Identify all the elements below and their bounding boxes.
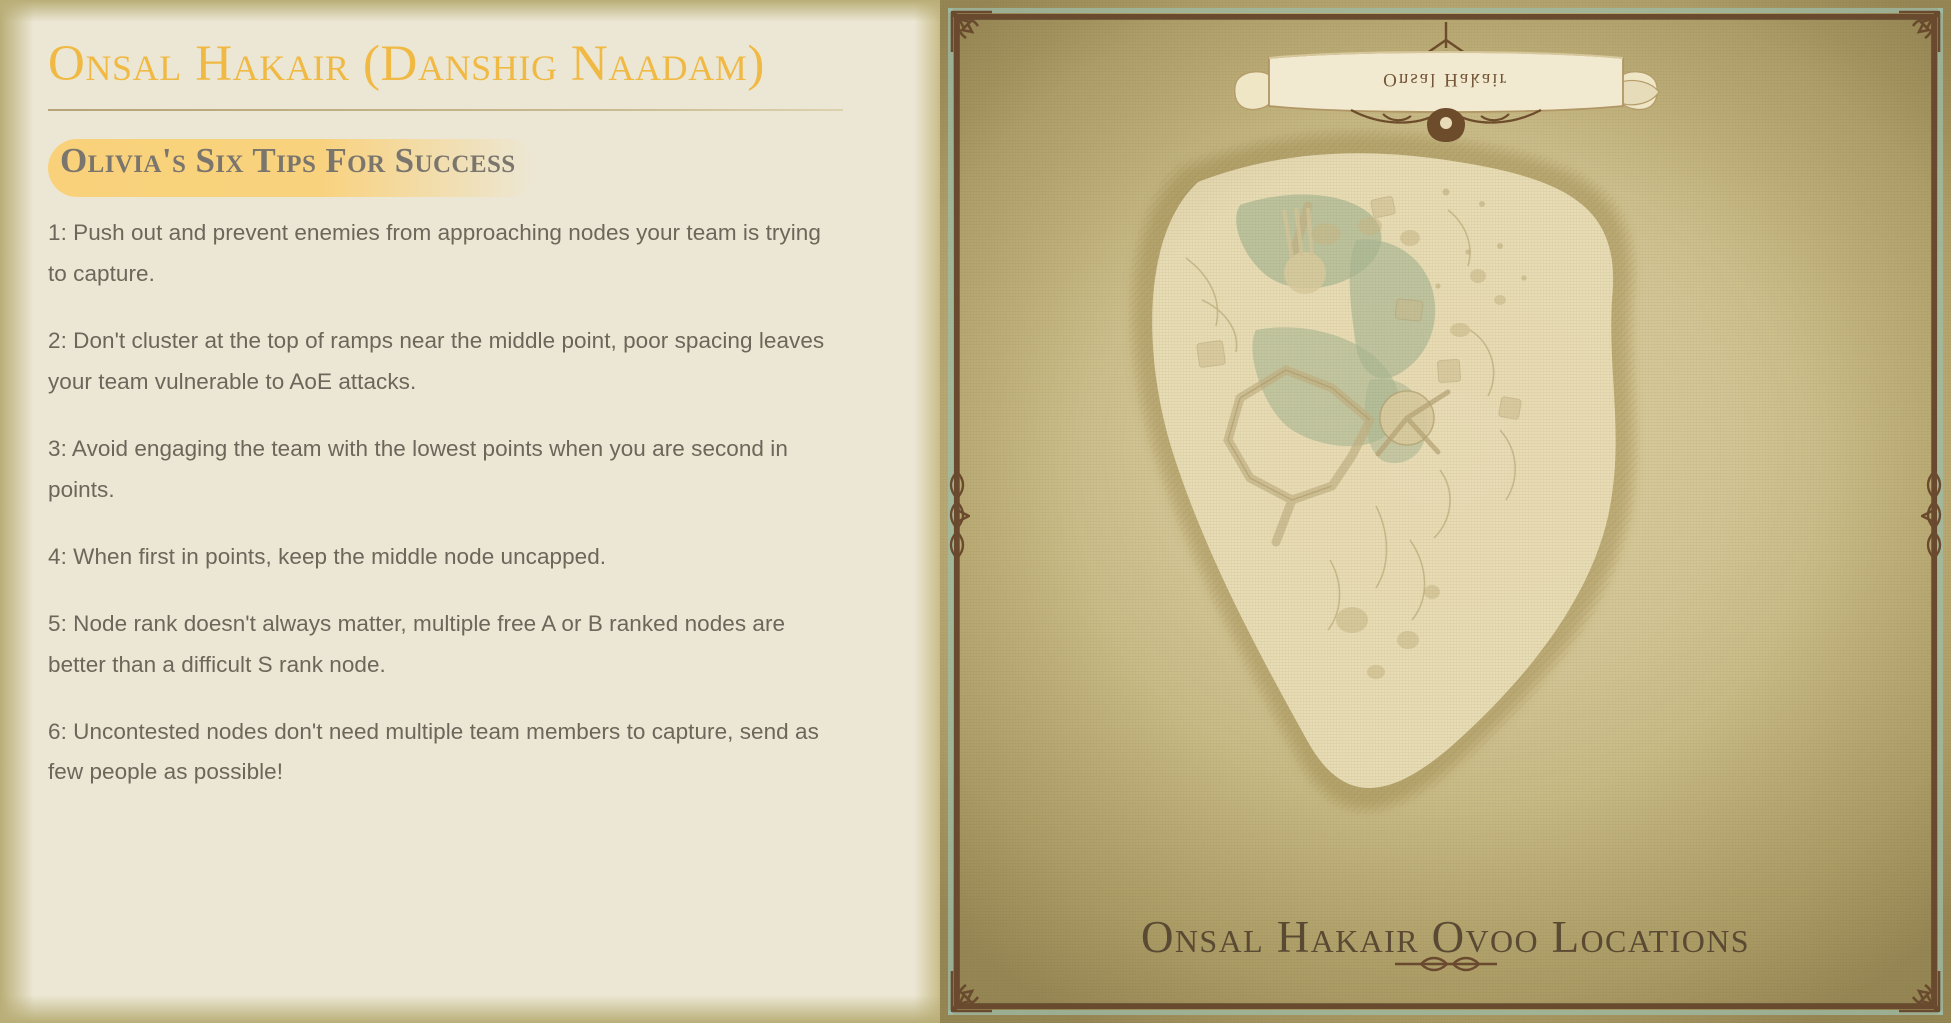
title-divider bbox=[48, 109, 843, 111]
guide-panel: Onsal Hakair (Danshig Naadam) Olivia's S… bbox=[0, 0, 940, 1023]
map-banner-scroll: Onsal Hakair bbox=[1231, 22, 1661, 142]
page-title: Onsal Hakair (Danshig Naadam) bbox=[48, 36, 886, 93]
guide-content: Onsal Hakair (Danshig Naadam) Olivia's S… bbox=[0, 0, 940, 793]
tip-item: 5: Node rank doesn't always matter, mult… bbox=[48, 604, 843, 686]
map-terrain bbox=[940, 0, 1951, 1023]
map-panel: Onsal Hakair Ovoondais Lonastaka Ovoonda… bbox=[940, 0, 1951, 1023]
tip-item: 6: Uncontested nodes don't need multiple… bbox=[48, 712, 843, 794]
map-banner-script: Onsal Hakair bbox=[1231, 68, 1661, 90]
app-root: Onsal Hakair (Danshig Naadam) Olivia's S… bbox=[0, 0, 1951, 1023]
tip-item: 1: Push out and prevent enemies from app… bbox=[48, 213, 843, 295]
tips-list: 1: Push out and prevent enemies from app… bbox=[48, 213, 886, 793]
guide-subtitle: Olivia's Six Tips For Success bbox=[60, 141, 516, 181]
tip-item: 4: When first in points, keep the middle… bbox=[48, 537, 843, 578]
tip-item: 2: Don't cluster at the top of ramps nea… bbox=[48, 321, 843, 403]
tip-item: 3: Avoid engaging the team with the lowe… bbox=[48, 429, 843, 511]
subtitle-block: Olivia's Six Tips For Success bbox=[48, 137, 538, 187]
map-footer-title: Onsal Hakair Ovoo Locations bbox=[940, 911, 1951, 963]
